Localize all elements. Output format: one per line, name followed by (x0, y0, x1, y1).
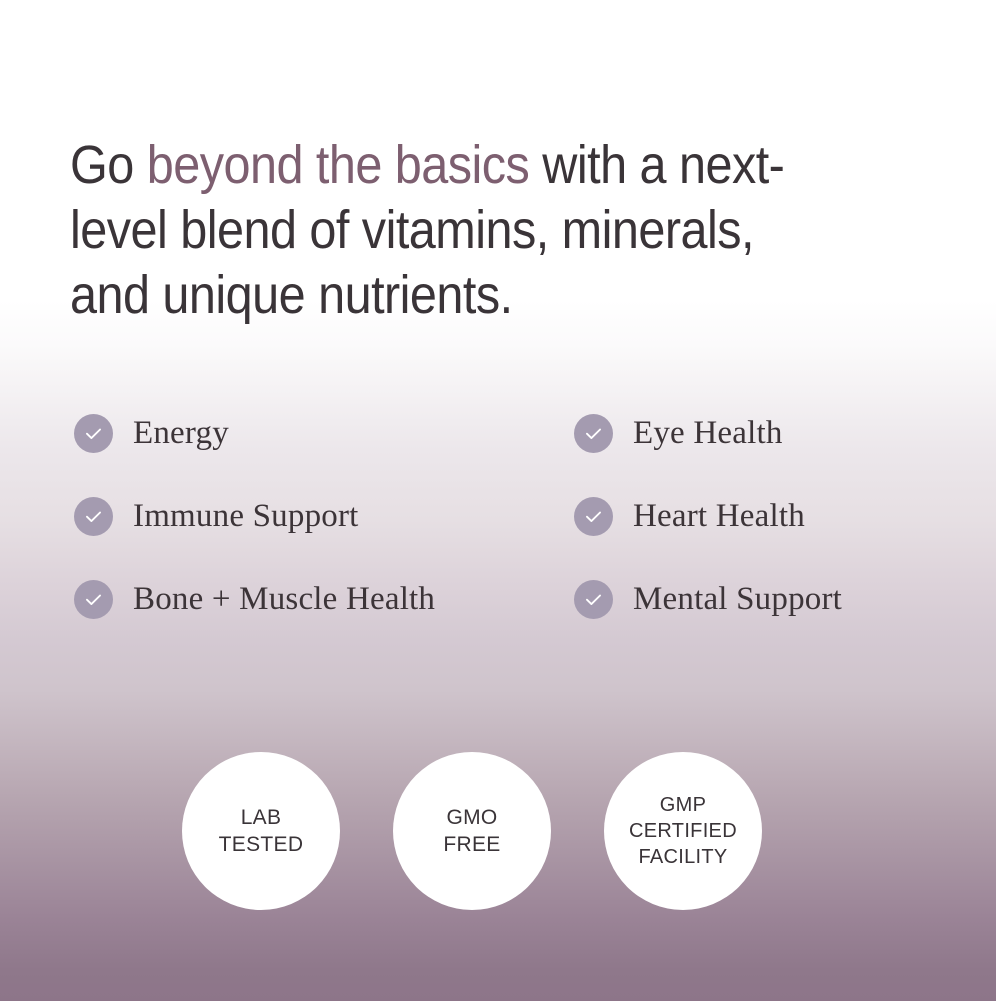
check-icon (574, 414, 613, 453)
benefit-item-bone-muscle-health: Bone + Muscle Health (74, 580, 435, 619)
benefit-item-mental-support: Mental Support (574, 580, 842, 619)
benefits-column-left: Energy Immune Support Bone + Muscle Heal… (74, 414, 435, 619)
check-icon (74, 580, 113, 619)
benefit-label: Heart Health (633, 497, 805, 536)
check-icon (574, 580, 613, 619)
check-icon (74, 414, 113, 453)
badge-lab-tested: LAB TESTED (182, 752, 340, 910)
benefit-label: Eye Health (633, 414, 783, 453)
badge-line: LAB (241, 804, 282, 831)
headline-accent: beyond the basics (147, 135, 530, 195)
benefit-item-eye-health: Eye Health (574, 414, 842, 453)
certification-badges: LAB TESTED GMO FREE GMP CERTIFIED FACILI… (182, 752, 762, 910)
badge-gmp-certified-facility: GMP CERTIFIED FACILITY (604, 752, 762, 910)
check-icon (574, 497, 613, 536)
benefit-label: Energy (133, 414, 229, 453)
page-title: Go beyond the basics with a next-level b… (70, 133, 817, 328)
benefit-label: Immune Support (133, 497, 359, 536)
benefit-item-immune-support: Immune Support (74, 497, 435, 536)
badge-line: GMO (446, 804, 497, 831)
badge-line: GMP (660, 792, 706, 818)
check-icon (74, 497, 113, 536)
benefits-column-right: Eye Health Heart Health Mental Support (574, 414, 842, 619)
badge-line: FREE (443, 831, 500, 858)
promo-panel: Go beyond the basics with a next-level b… (0, 0, 996, 1001)
badge-line: TESTED (219, 831, 304, 858)
benefit-item-heart-health: Heart Health (574, 497, 842, 536)
benefit-label: Mental Support (633, 580, 842, 619)
benefit-item-energy: Energy (74, 414, 435, 453)
badge-line: FACILITY (638, 844, 727, 870)
badge-line: CERTIFIED (629, 818, 737, 844)
benefit-label: Bone + Muscle Health (133, 580, 435, 619)
headline-part-1: Go (70, 135, 147, 195)
badge-gmo-free: GMO FREE (393, 752, 551, 910)
